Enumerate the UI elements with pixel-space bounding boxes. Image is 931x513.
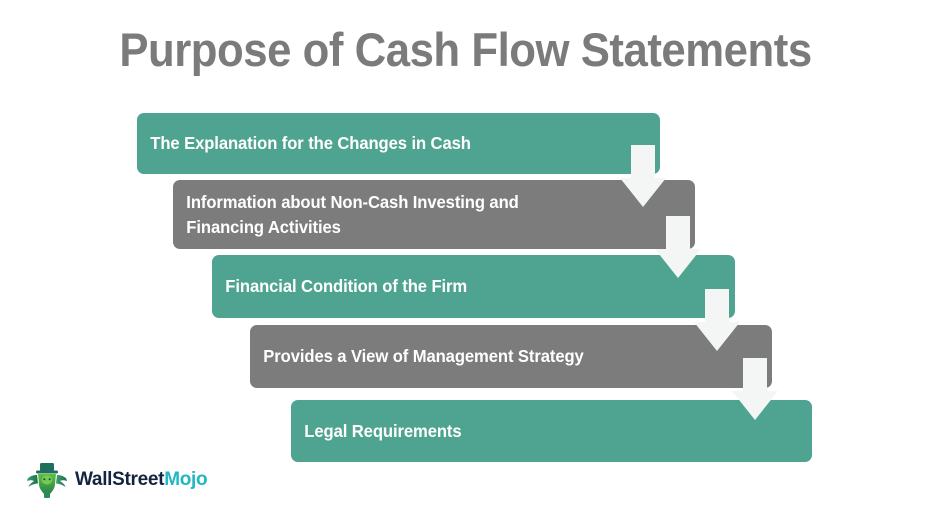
arrow-stem [743, 358, 767, 392]
bull-mascot-icon [26, 459, 68, 501]
slide-canvas: Purpose of Cash Flow Statements The Expl… [0, 0, 931, 513]
flow-diagram: The Explanation for the Changes in Cash … [0, 0, 931, 513]
flow-step-2: Information about Non-Cash Investing and… [173, 180, 695, 249]
arrow-head [732, 391, 778, 420]
wallstreetmojo-logo: WallStreetMojo [26, 459, 207, 501]
flow-step-2-label: Information about Non-Cash Investing and… [173, 190, 532, 240]
flow-step-4-label: Provides a View of Management Strategy [250, 344, 597, 369]
arrow-stem [631, 145, 655, 179]
logo-text-accent: Mojo [164, 469, 207, 490]
flow-step-1: The Explanation for the Changes in Cash [137, 113, 660, 174]
arrow-stem [705, 289, 729, 323]
flow-step-1-label: The Explanation for the Changes in Cash [137, 131, 484, 156]
arrow-head [694, 322, 740, 351]
logo-text-primary: WallStreet [75, 469, 164, 490]
arrow-stem [666, 216, 690, 250]
flow-step-5-label: Legal Requirements [291, 419, 475, 444]
logo-wordmark: WallStreetMojo [75, 469, 207, 491]
arrow-head [655, 249, 701, 278]
flow-step-3-label: Financial Condition of the Firm [212, 274, 480, 299]
arrow-down-icon-3 [694, 289, 740, 351]
arrow-down-icon-2 [655, 216, 701, 278]
arrow-head [620, 178, 666, 207]
arrow-down-icon-1 [620, 145, 666, 207]
arrow-down-icon-4 [732, 358, 778, 420]
